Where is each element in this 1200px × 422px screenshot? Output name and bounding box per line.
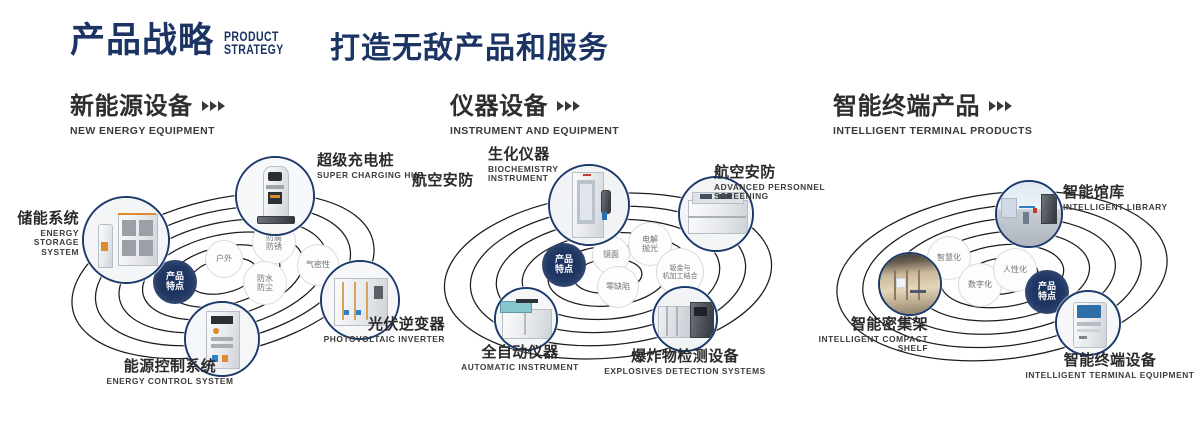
node-energy-storage-system[interactable] (82, 196, 170, 284)
feature-chip: 零缺陷 (597, 266, 639, 308)
section-header-new-energy: 新能源设备 NEW ENERGY EQUIPMENT (70, 94, 225, 137)
photo-kiosk-terminal (1057, 292, 1119, 354)
node-super-charging-hub[interactable] (235, 156, 315, 236)
cluster-new-energy: 产品 特点 户外 防腐 防锈 防水 防尘 气密性 储能系统 ENERGY STO… (45, 148, 445, 413)
section-header-intelligent: 智能终端产品 INTELLIGENT TERMINAL PRODUCTS (833, 94, 1032, 137)
product-strategy-infographic: 产品战略 PRODUCT STRATEGY 打造无敌产品和服务 新能源设备 NE… (0, 0, 1200, 422)
brand-title: 产品战略 PRODUCT STRATEGY (70, 24, 301, 59)
node-label-cn: 生化仪器 (488, 146, 618, 163)
section-header-instrument: 仪器设备 INSTRUMENT AND EQUIPMENT (450, 94, 619, 137)
label-photovoltaic-inverter: 光伏逆变器 PHOTOVOLTAIC INVERTER (245, 316, 445, 344)
node-label-en: INTELLIGENT COMPACT SHELF (728, 335, 928, 354)
node-label-cn: 智能密集架 (728, 316, 928, 333)
node-label-en: INTELLIGENT LIBRARY (1063, 203, 1200, 212)
page-headline: 打造无敌产品和服务 (330, 34, 609, 64)
chevron-right-icon (557, 101, 580, 111)
node-label-en: EXPLOSIVES DETECTION SYSTEMS (580, 367, 790, 376)
brand-title-en: PRODUCT STRATEGY (224, 30, 284, 56)
node-intelligent-compact-shelf[interactable] (878, 252, 942, 316)
core-feature-badge: 产品 特点 (542, 243, 586, 287)
section-title-cn: 智能终端产品 (833, 94, 980, 118)
section-title-en: NEW ENERGY EQUIPMENT (70, 125, 225, 137)
photo-compact-shelf (880, 254, 940, 314)
section-title-cn: 新能源设备 (70, 94, 193, 118)
photo-automatic-analyzer (496, 289, 556, 349)
photo-explosives-detector (654, 288, 716, 350)
node-label-cn: 智能终端设备 (1010, 352, 1200, 369)
feature-chip: 户外 (205, 240, 243, 278)
photo-storage-cabinet (84, 198, 168, 282)
node-label-en: ENERGY CONTROL SYSTEM (60, 377, 280, 386)
cluster-intelligent: 智慧化 数字化 人性化 产品 特点 智能馆库 INTELLIGENT LIBRA… (810, 148, 1200, 413)
label-intelligent-library: 智能馆库 INTELLIGENT LIBRARY (1063, 184, 1200, 212)
node-label-cn: 光伏逆变器 (245, 316, 445, 333)
section-title-en: INSTRUMENT AND EQUIPMENT (450, 125, 619, 137)
label-intelligent-compact-shelf: 智能密集架 INTELLIGENT COMPACT SHELF (728, 316, 928, 354)
chevron-right-icon (202, 101, 225, 111)
brand-title-cn: 产品战略 (70, 24, 214, 59)
node-explosives-detection-systems[interactable] (652, 286, 718, 352)
node-label-en: ENERGY STORAGE SYSTEM (1, 229, 79, 257)
photo-charging-pile (237, 158, 313, 234)
node-label-cn: 智能馆库 (1063, 184, 1200, 201)
node-label-en: PHOTOVOLTAIC INVERTER (245, 335, 445, 344)
photo-library-room (997, 182, 1061, 246)
node-intelligent-terminal-equipment[interactable] (1055, 290, 1121, 356)
node-label-en: INTELLIGENT TERMINAL EQUIPMENT (1010, 371, 1200, 380)
label-energy-control-system: 能源控制系统 ENERGY CONTROL SYSTEM (60, 358, 280, 386)
node-automatic-instrument[interactable] (494, 287, 558, 351)
section-title-en: INTELLIGENT TERMINAL PRODUCTS (833, 125, 1032, 137)
node-label-cn: 储能系统 (1, 210, 79, 227)
label-biochemistry-instrument: 生化仪器 BIOCHEMISTRY INSTRUMENT (488, 146, 618, 184)
node-label-cn: 能源控制系统 (60, 358, 280, 375)
feature-chip: 防水 防尘 (243, 261, 287, 305)
node-label-en: BIOCHEMISTRY INSTRUMENT (488, 165, 618, 184)
section-title-cn: 仪器设备 (450, 94, 548, 118)
label-energy-storage-system: 储能系统 ENERGY STORAGE SYSTEM (1, 210, 79, 257)
label-intelligent-terminal-equipment: 智能终端设备 INTELLIGENT TERMINAL EQUIPMENT (1010, 352, 1200, 380)
cluster-instrument: 产品 特点 镜面 电解 抛光 零缺陷 钣金与 机加工结合 航空安防 生化仪器 B… (420, 148, 820, 413)
node-intelligent-library[interactable] (995, 180, 1063, 248)
chevron-right-icon (989, 101, 1012, 111)
